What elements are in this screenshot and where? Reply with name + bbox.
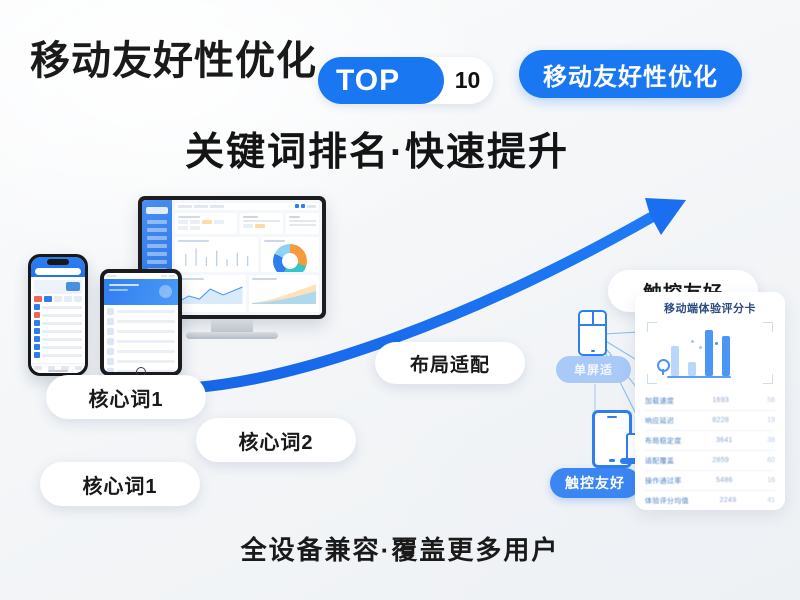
header-tag-pill[interactable]: 移动友好性优化 (519, 50, 742, 98)
row-name: 加载速度 (645, 396, 674, 406)
score-card-graph (645, 322, 775, 384)
diagram-pill-touch-friendly[interactable]: 触控友好 (550, 468, 640, 498)
top-rank-label: TOP (336, 64, 400, 98)
table-row: 布局稳定度 3641 38 (645, 431, 775, 451)
row-delta: 60 (767, 457, 775, 464)
table-row: 加载速度 1693 58 (645, 391, 775, 411)
keyword-pill-3[interactable]: 核心词1 (40, 462, 200, 506)
row-value: 8228 (712, 417, 729, 424)
table-row: 响应延迟 8228 19 (645, 411, 775, 431)
list-item (34, 312, 82, 318)
score-card-title: 移动端体验评分卡 (645, 300, 775, 316)
score-card: 移动端体验评分卡 加载速度 16 (635, 292, 785, 510)
phone-notch (47, 259, 69, 265)
list-item (34, 328, 82, 334)
page-title: 移动友好性优化 (30, 28, 317, 86)
diagram-phone-split-icon (578, 310, 607, 356)
row-value: 1693 (712, 397, 729, 404)
row-value: 2249 (720, 497, 737, 504)
list-item (34, 336, 82, 342)
location-pin-icon (657, 359, 670, 372)
score-card-bars (671, 330, 730, 376)
row-name: 体验评分均值 (645, 496, 689, 506)
tablet-list (104, 305, 178, 372)
row-delta: 16 (767, 477, 775, 484)
tablet-hero-banner (104, 279, 178, 305)
row-delta: 38 (767, 437, 775, 444)
row-delta: 58 (767, 397, 775, 404)
phone-app-header (31, 257, 85, 277)
phone-home-indicator (48, 370, 68, 372)
top-rank-badge: TOP 10 (318, 57, 493, 104)
list-item (34, 320, 82, 326)
row-value: 5486 (716, 477, 733, 484)
list-item (34, 352, 82, 358)
row-delta: 19 (767, 417, 775, 424)
list-item (107, 308, 175, 315)
footer-tagline: 全设备兼容·覆盖更多用户 (0, 530, 800, 567)
keyword-pill-2[interactable]: 核心词2 (196, 418, 356, 462)
mobile-experience-diagram: 单屏适 触控友好 移动端体验评分卡 (540, 300, 785, 515)
diagram-pill-single-screen[interactable]: 单屏适 (556, 356, 631, 383)
icon-row (34, 296, 82, 302)
promo-card (34, 280, 82, 294)
row-name: 响应延迟 (645, 416, 674, 426)
top-rank-badge-blue: TOP (318, 57, 444, 104)
list-item (34, 344, 82, 350)
poster-canvas: 移动友好性优化 TOP 10 移动友好性优化 关键词排名·快速提升 (0, 0, 800, 600)
row-value: 2859 (712, 457, 729, 464)
list-item (34, 304, 82, 310)
tablet-device (100, 269, 182, 376)
device-cluster (28, 196, 328, 396)
phone-search-bar (35, 268, 81, 275)
phone-device (28, 254, 88, 376)
phone-content (31, 277, 85, 361)
row-delta: 41 (767, 497, 775, 504)
table-row: 操作通过率 5486 16 (645, 471, 775, 491)
monitor-stand-foot (186, 332, 278, 339)
table-row: 适配覆盖 2859 60 (645, 451, 775, 471)
row-name: 操作通过率 (645, 476, 682, 486)
row-name: 布局稳定度 (645, 436, 682, 446)
keyword-pill-1[interactable]: 核心词1 (46, 375, 206, 419)
phone-screen (31, 257, 85, 373)
score-card-table: 加载速度 1693 58 响应延迟 8228 19 布局稳定度 3641 38 … (645, 391, 775, 510)
list-item (107, 338, 175, 345)
list-item (107, 358, 175, 365)
top-rank-number: 10 (448, 61, 487, 100)
tablet-screen (104, 273, 178, 372)
list-item (107, 328, 175, 335)
row-value: 3641 (716, 437, 733, 444)
table-row: 体验评分均值 2249 41 (645, 491, 775, 510)
page-subtitle: 关键词排名·快速提升 (185, 121, 569, 177)
row-name: 适配覆盖 (645, 456, 674, 466)
callout-layout-adaptation[interactable]: 布局适配 (375, 342, 525, 384)
list-item (107, 348, 175, 355)
list-item (107, 318, 175, 325)
